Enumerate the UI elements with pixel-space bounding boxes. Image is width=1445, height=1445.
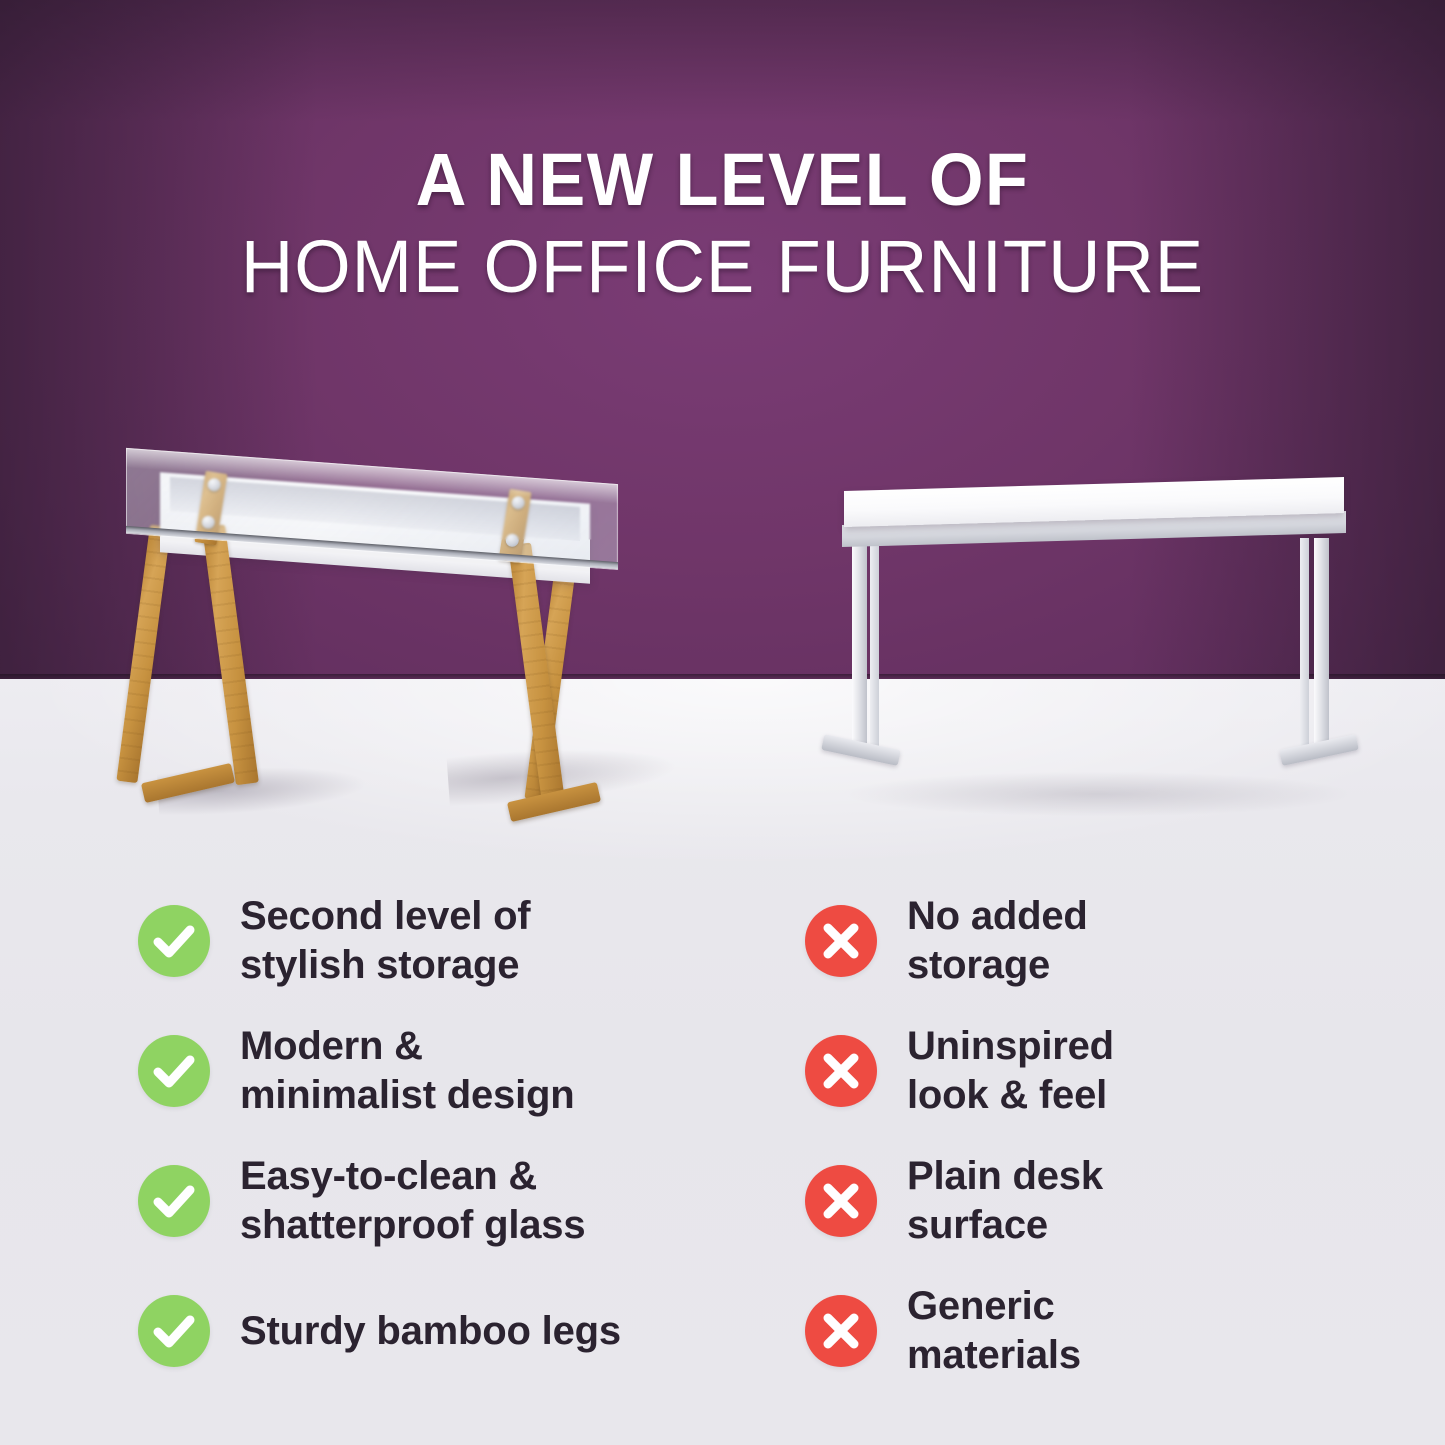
list-item-label: Uninspired look & feel (907, 1022, 1114, 1120)
list-item-label: Easy-to-clean & shatterproof glass (240, 1152, 585, 1250)
cross-icon (805, 905, 877, 977)
list-item: Generic materials (805, 1266, 1445, 1396)
list-item-label: Modern & minimalist design (240, 1022, 574, 1120)
list-item: Easy-to-clean & shatterproof glass (138, 1136, 760, 1266)
cross-icon (805, 1035, 877, 1107)
metal-leg (852, 538, 867, 753)
product-image-plain-white-desk (828, 480, 1356, 820)
list-item: Uninspired look & feel (805, 1006, 1445, 1136)
list-item: Second level of stylish storage (138, 876, 760, 1006)
list-item: Sturdy bamboo legs (138, 1266, 760, 1396)
check-icon (138, 1165, 210, 1237)
cross-icon (805, 1295, 877, 1367)
list-item-label: Generic materials (907, 1282, 1081, 1380)
cons-column: No added storage Uninspired look & feel … (760, 876, 1445, 1396)
list-item-label: Second level of stylish storage (240, 892, 530, 990)
list-item: Plain desk surface (805, 1136, 1445, 1266)
metal-leg (1314, 538, 1329, 753)
product-image-glass-bamboo-desk (118, 448, 638, 868)
check-icon (138, 1035, 210, 1107)
list-item: Modern & minimalist design (138, 1006, 760, 1136)
cross-icon (805, 1165, 877, 1237)
list-item: No added storage (805, 876, 1445, 1006)
metal-leg-rear (870, 538, 879, 750)
desk-shadow (848, 772, 1348, 816)
product-comparison-infographic: A NEW LEVEL OF HOME OFFICE FURNITURE (0, 0, 1445, 1445)
list-item-label: Plain desk surface (907, 1152, 1103, 1250)
pros-column: Second level of stylish storage Modern &… (0, 876, 760, 1396)
list-item-label: No added storage (907, 892, 1088, 990)
comparison-lists: Second level of stylish storage Modern &… (0, 876, 1445, 1396)
check-icon (138, 1295, 210, 1367)
metal-leg-rear (1300, 538, 1309, 750)
bamboo-leg (116, 525, 170, 784)
list-item-label: Sturdy bamboo legs (240, 1307, 621, 1356)
bamboo-leg (202, 524, 259, 785)
check-icon (138, 905, 210, 977)
